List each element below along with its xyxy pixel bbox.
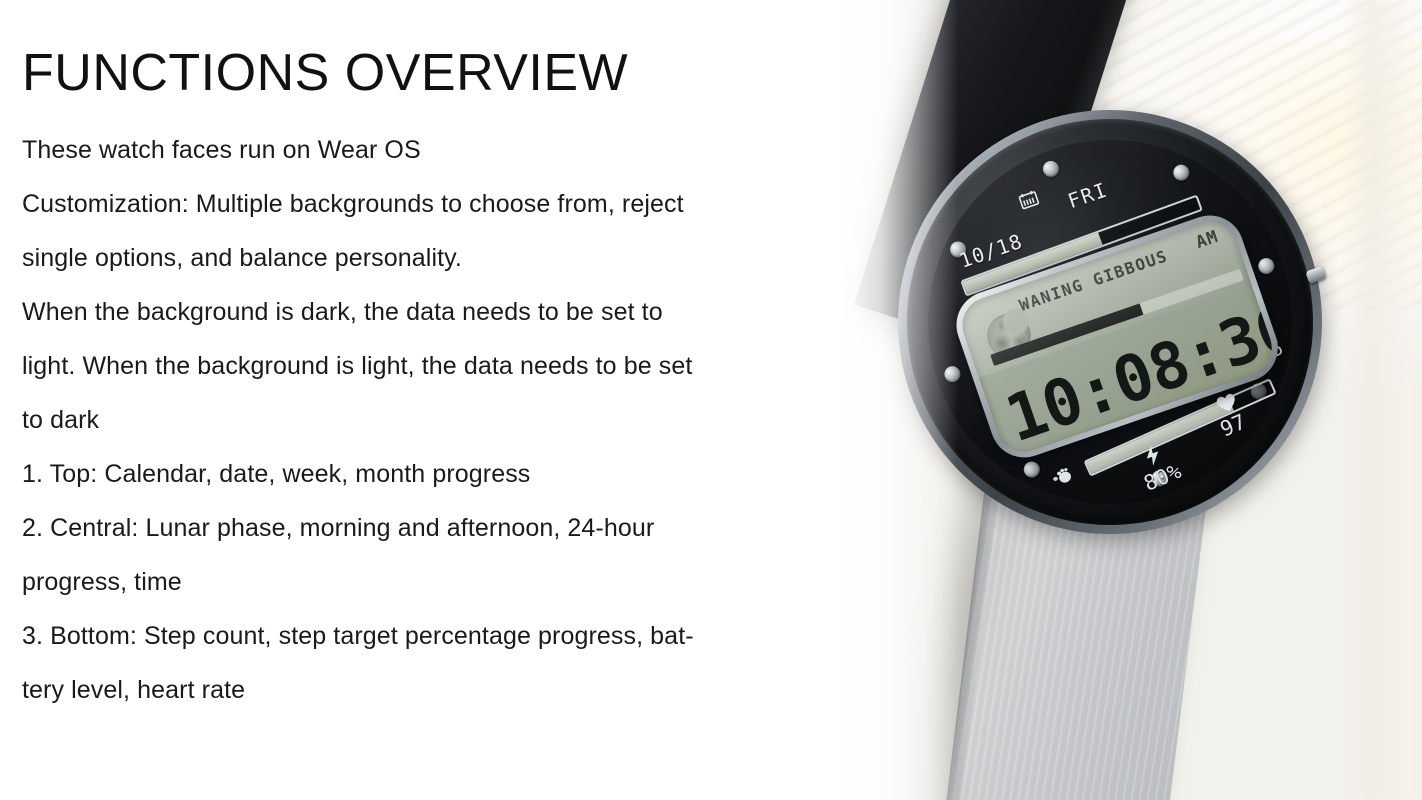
description-block: These watch faces run on Wear OSCustomiz…: [22, 123, 882, 717]
page-title: FUNCTIONS OVERVIEW: [22, 46, 882, 101]
footprints-icon: [1049, 465, 1076, 489]
slide-canvas: 10/18 FRI WANING GIBBOUS AM: [0, 0, 1422, 800]
watch-dial[interactable]: 10/18 FRI WANING GIBBOUS AM: [879, 91, 1342, 554]
description-line: to dark: [22, 393, 882, 447]
bezel-stud: [1022, 459, 1042, 479]
description-line: These watch faces run on Wear OS: [22, 123, 882, 177]
description-line: single options, and balance personality.: [22, 231, 882, 285]
description-line: light. When the background is light, the…: [22, 339, 882, 393]
bezel-stud: [1171, 162, 1191, 182]
text-column: FUNCTIONS OVERVIEW These watch faces run…: [22, 46, 882, 717]
bezel-stud: [1256, 256, 1276, 276]
meridiem-label: AM: [1193, 227, 1221, 253]
bezel-stud: [942, 364, 962, 384]
description-line: 1. Top: Calendar, date, week, month prog…: [22, 447, 882, 501]
description-line: Customization: Multiple backgrounds to c…: [22, 177, 882, 231]
description-line: tery level, heart rate: [22, 663, 882, 717]
calendar-icon: [1018, 189, 1040, 210]
weekday-value: FRI: [1065, 177, 1111, 213]
description-line: 3. Bottom: Step count, step target perce…: [22, 609, 882, 663]
description-line: When the background is dark, the data ne…: [22, 285, 882, 339]
watch-product-photo: 10/18 FRI WANING GIBBOUS AM: [838, 0, 1422, 800]
description-line: 2. Central: Lunar phase, morning and aft…: [22, 501, 882, 555]
bezel-stud: [1041, 159, 1061, 179]
description-line: progress, time: [22, 555, 882, 609]
